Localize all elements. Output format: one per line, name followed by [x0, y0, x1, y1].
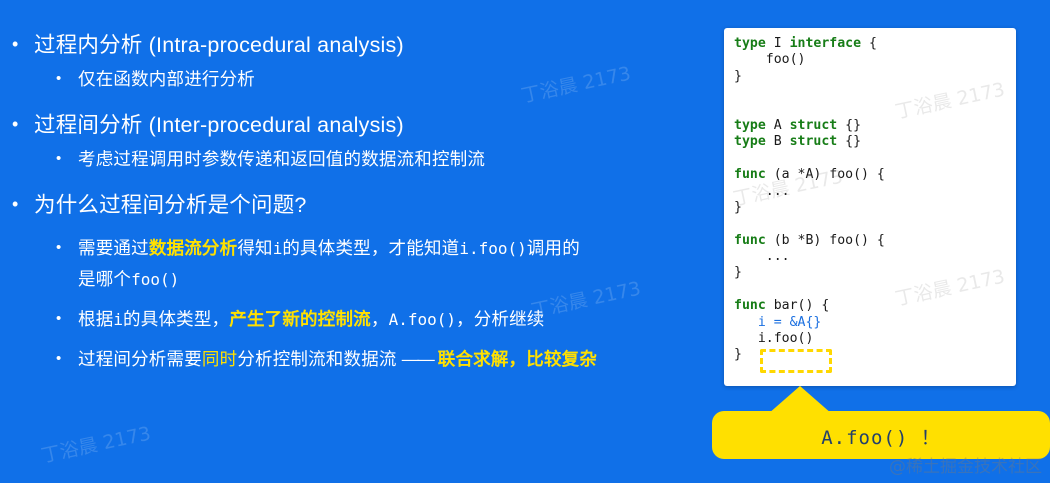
- bullet-joint-solving: 过程间分析需要同时分析控制流和数据流 —— 联合求解，比较复杂: [0, 344, 700, 375]
- code-line: [734, 102, 885, 118]
- code-keyword: func: [734, 298, 766, 313]
- code-line: }: [734, 69, 885, 85]
- text-segment: 需要通过: [78, 238, 149, 258]
- code-keyword: type: [734, 134, 766, 149]
- spacer: [0, 335, 700, 344]
- bullet-dataflow-analysis-line2: 是哪个foo(): [0, 264, 700, 295]
- callout-tail: [768, 386, 832, 414]
- code-i: i: [273, 239, 283, 258]
- bullet-intra-procedural: 过程内分析 (Intra-procedural analysis): [0, 28, 700, 62]
- code-panel: type I interface { foo()}type A struct {…: [724, 28, 1016, 386]
- text-segment: 根据: [78, 309, 113, 329]
- code-text: }: [734, 69, 742, 84]
- spacer: [0, 175, 700, 188]
- code-line: type I interface {: [734, 36, 885, 52]
- code-text: i.foo(): [734, 331, 813, 346]
- highlight-simultaneous: 同时: [202, 349, 237, 369]
- code-text: (b *B) foo() {: [766, 233, 885, 248]
- code-line: [734, 282, 885, 298]
- text-segment: 得知: [237, 238, 272, 258]
- code-text: {}: [837, 118, 861, 133]
- bullet-inter-procedural: 过程间分析 (Inter-procedural analysis): [0, 108, 700, 142]
- code-text: [734, 315, 758, 330]
- code-line: [734, 151, 885, 167]
- code-line: type A struct {}: [734, 118, 885, 134]
- slide-canvas: 丁浴晨 2173 丁浴晨 2173 丁浴晨 2173 过程内分析 (Intra-…: [0, 0, 1050, 483]
- code-line: func (a *A) foo() {: [734, 167, 885, 183]
- code-line: foo(): [734, 52, 885, 68]
- code-keyword: struct: [790, 134, 838, 149]
- code-line: func bar() {: [734, 298, 885, 314]
- code-body: type I interface { foo()}type A struct {…: [734, 36, 885, 364]
- code-text: }: [734, 200, 742, 215]
- text-segment: ，: [371, 309, 389, 329]
- watermark-corner: @稀土掘金技术社区: [889, 452, 1042, 477]
- spacer: [0, 295, 700, 304]
- bullet-text: 仅在函数内部进行分析: [78, 69, 255, 89]
- bullet-list: 过程内分析 (Intra-procedural analysis) 仅在函数内部…: [0, 28, 700, 375]
- code-text: ...: [734, 184, 790, 199]
- em-dash: ——: [402, 349, 433, 369]
- callout-text: A.foo() ！: [712, 423, 1050, 450]
- code-i-foo: i.foo(): [459, 239, 526, 258]
- code-keyword: func: [734, 167, 766, 182]
- code-line: type B struct {}: [734, 134, 885, 150]
- code-text: A: [766, 118, 790, 133]
- bullet-why-question: 为什么过程间分析是个问题?: [0, 188, 700, 222]
- code-line: ...: [734, 249, 885, 265]
- code-line: ...: [734, 184, 885, 200]
- watermark-author: 丁浴晨 2173: [38, 419, 153, 469]
- text-segment: 调用的: [527, 238, 580, 258]
- code-line: i.foo(): [734, 331, 885, 347]
- code-text: B: [766, 134, 790, 149]
- code-text: ...: [734, 249, 790, 264]
- code-keyword: func: [734, 233, 766, 248]
- watermark-author: 丁浴晨 2173: [892, 75, 1007, 125]
- bullet-text: 为什么过程间分析是个问题?: [34, 193, 307, 217]
- code-keyword: struct: [790, 118, 838, 133]
- code-text: foo(): [734, 52, 805, 67]
- code-line: i = &A{}: [734, 315, 885, 331]
- highlight-dataflow-analysis: 数据流分析: [149, 238, 238, 258]
- code-text: bar() {: [766, 298, 830, 313]
- text-segment: 分析控制流和数据流: [237, 349, 401, 369]
- code-text: }: [734, 265, 742, 280]
- bullet-text: 过程间分析 (Inter-procedural analysis): [34, 113, 404, 137]
- watermark-author: 丁浴晨 2173: [892, 262, 1007, 312]
- text-segment: ，分析继续: [456, 309, 545, 329]
- text-segment: 的具体类型，才能知道: [282, 238, 459, 258]
- code-text: I: [766, 36, 790, 51]
- code-line: [734, 85, 885, 101]
- code-a-foo: A.foo(): [389, 310, 456, 329]
- text-segment: 的具体类型，: [123, 309, 229, 329]
- code-text: }: [734, 347, 742, 362]
- bullet-dataflow-analysis: 需要通过数据流分析得知i的具体类型，才能知道i.foo()调用的: [0, 233, 700, 264]
- code-keyword: type: [734, 118, 766, 133]
- code-text: {}: [837, 134, 861, 149]
- code-line: }: [734, 265, 885, 281]
- bullet-intra-detail: 仅在函数内部进行分析: [0, 64, 700, 95]
- highlight-new-controlflow: 产生了新的控制流: [229, 309, 371, 329]
- code-keyword: interface: [790, 36, 861, 51]
- spacer: [0, 95, 700, 108]
- text-segment: 过程间分析需要: [78, 349, 202, 369]
- code-text: {: [861, 36, 877, 51]
- code-highlight-box: [760, 349, 832, 373]
- bullet-text: 考虑过程调用时参数传递和返回值的数据流和控制流: [78, 149, 485, 169]
- bullet-inter-detail: 考虑过程调用时参数传递和返回值的数据流和控制流: [0, 144, 700, 175]
- spacer: [0, 224, 700, 233]
- code-line: }: [734, 200, 885, 216]
- text-segment: 是哪个: [78, 269, 131, 289]
- code-keyword: type: [734, 36, 766, 51]
- code-line: [734, 216, 885, 232]
- code-foo: foo(): [131, 270, 179, 289]
- code-i: i: [113, 310, 123, 329]
- highlight-joint-solving: 联合求解，比较复杂: [433, 349, 597, 369]
- code-line: func (b *B) foo() {: [734, 233, 885, 249]
- code-text: (a *A) foo() {: [766, 167, 885, 182]
- bullet-text: 过程内分析 (Intra-procedural analysis): [34, 33, 404, 57]
- code-variable: i = &A{}: [758, 315, 822, 330]
- bullet-new-controlflow: 根据i的具体类型，产生了新的控制流，A.foo()，分析继续: [0, 304, 700, 335]
